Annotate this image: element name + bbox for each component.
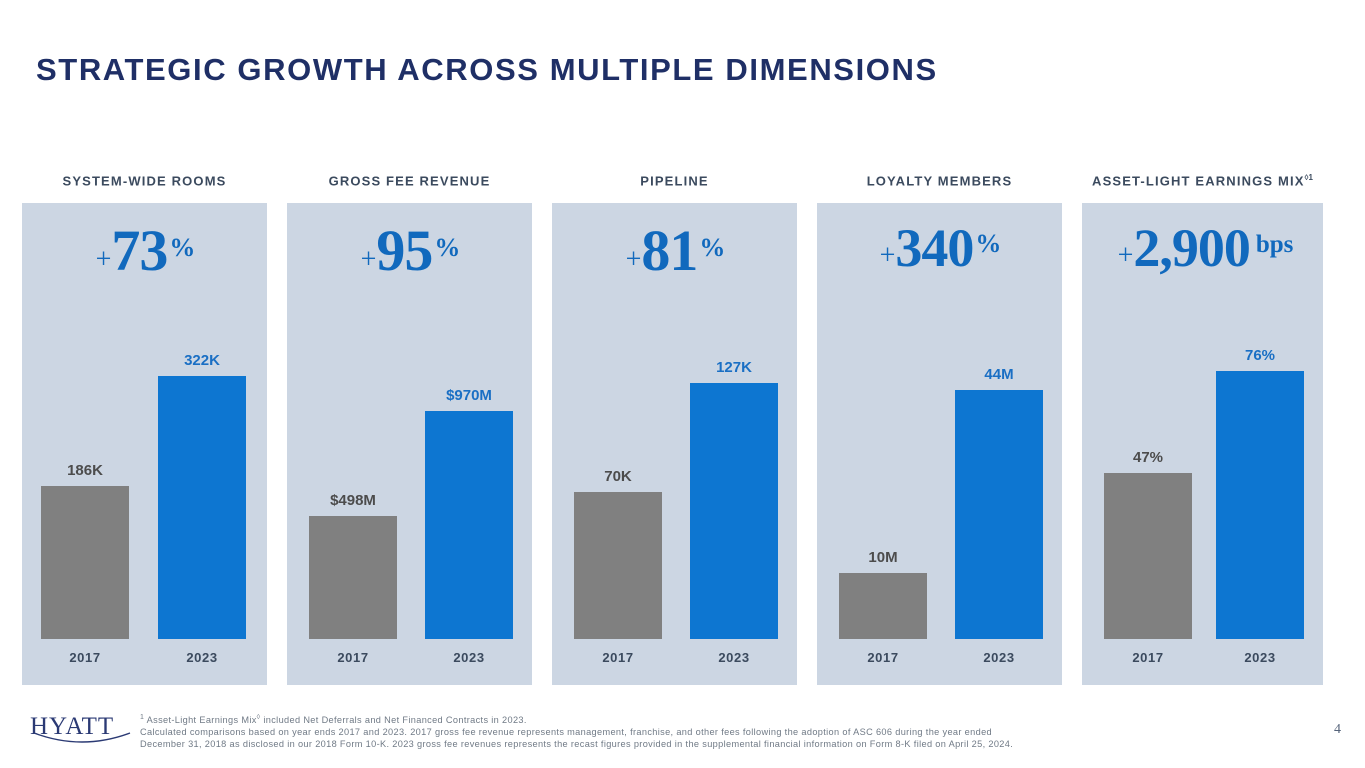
footnote-line-1: 1 Asset-Light Earnings Mix◊ included Net… (140, 712, 1280, 727)
footnote-line-2: Calculated comparisons based on year end… (140, 727, 1280, 739)
bar-chart: 10M 2017 44M 2023 (817, 203, 1062, 685)
year-label-2023: 2023 (425, 650, 513, 665)
bar-group-2017: 10M (839, 573, 927, 639)
bar-2023 (1216, 371, 1304, 639)
panel-body: +95% $498M 2017 $970M 2023 (287, 203, 532, 685)
panel-title: PIPELINE (552, 168, 797, 203)
year-label-2023: 2023 (955, 650, 1043, 665)
panel-body: +73% 186K 2017 322K 2023 (22, 203, 267, 685)
panel-title: SYSTEM-WIDE ROOMS (22, 168, 267, 203)
bar-2017 (1104, 473, 1192, 639)
bar-group-2023: 44M (955, 390, 1043, 639)
year-label-2017: 2017 (41, 650, 129, 665)
bar-2023 (955, 390, 1043, 639)
year-label-2023: 2023 (158, 650, 246, 665)
metric-panel-asset-light-earnings-mix: ASSET-LIGHT EARNINGS MIX◊1 +2,900bps 47%… (1082, 168, 1323, 688)
page-number: 4 (1334, 722, 1341, 738)
bar-value-2017: 47% (1133, 450, 1163, 465)
bar-value-2023: $970M (446, 388, 492, 403)
bar-2023 (690, 383, 778, 639)
footnote-line-3: December 31, 2018 as disclosed in our 20… (140, 739, 1280, 751)
bar-group-2017: 47% (1104, 473, 1192, 639)
metrics-panel-row: SYSTEM-WIDE ROOMS +73% 186K 2017 322K 20… (22, 168, 1343, 688)
year-label-2023: 2023 (1216, 650, 1304, 665)
bar-value-2017: 186K (67, 463, 103, 478)
panel-body: +81% 70K 2017 127K 2023 (552, 203, 797, 685)
bar-group-2017: 186K (41, 486, 129, 639)
metric-panel-pipeline: PIPELINE +81% 70K 2017 127K 2023 (552, 168, 797, 688)
bar-value-2023: 76% (1245, 348, 1275, 363)
panel-title: LOYALTY MEMBERS (817, 168, 1062, 203)
bar-2023 (158, 376, 246, 639)
bar-2017 (41, 486, 129, 639)
bar-value-2017: $498M (330, 493, 376, 508)
bar-value-2023: 322K (184, 353, 220, 368)
bar-chart: 186K 2017 322K 2023 (22, 203, 267, 685)
year-label-2017: 2017 (309, 650, 397, 665)
bar-chart: $498M 2017 $970M 2023 (287, 203, 532, 685)
hyatt-logo-arc-icon (32, 730, 132, 748)
bar-2017 (574, 492, 662, 639)
bar-group-2023: $970M (425, 411, 513, 639)
bar-group-2023: 76% (1216, 371, 1304, 639)
year-label-2023: 2023 (690, 650, 778, 665)
year-label-2017: 2017 (839, 650, 927, 665)
page-title: STRATEGIC GROWTH ACROSS MULTIPLE DIMENSI… (36, 52, 938, 88)
bar-2023 (425, 411, 513, 639)
metric-panel-system-wide-rooms: SYSTEM-WIDE ROOMS +73% 186K 2017 322K 20… (22, 168, 267, 688)
panel-title: ASSET-LIGHT EARNINGS MIX◊1 (1082, 168, 1323, 203)
metric-panel-loyalty-members: LOYALTY MEMBERS +340% 10M 2017 44M 2023 (817, 168, 1062, 688)
hyatt-logo: HYATT (30, 714, 135, 752)
bar-value-2023: 44M (984, 367, 1013, 382)
bar-2017 (839, 573, 927, 639)
panel-title: GROSS FEE REVENUE (287, 168, 532, 203)
panel-body: +340% 10M 2017 44M 2023 (817, 203, 1062, 685)
bar-group-2023: 127K (690, 383, 778, 639)
bar-group-2017: $498M (309, 516, 397, 639)
panel-body: +2,900bps 47% 2017 76% 2023 (1082, 203, 1323, 685)
bar-chart: 47% 2017 76% 2023 (1082, 203, 1323, 685)
bar-value-2023: 127K (716, 360, 752, 375)
bar-value-2017: 70K (604, 469, 632, 484)
metric-panel-gross-fee-revenue: GROSS FEE REVENUE +95% $498M 2017 $970M … (287, 168, 532, 688)
bar-chart: 70K 2017 127K 2023 (552, 203, 797, 685)
bar-2017 (309, 516, 397, 639)
year-label-2017: 2017 (574, 650, 662, 665)
bar-group-2023: 322K (158, 376, 246, 639)
slide-footer: HYATT 1 Asset-Light Earnings Mix◊ includ… (0, 700, 1365, 768)
bar-group-2017: 70K (574, 492, 662, 639)
year-label-2017: 2017 (1104, 650, 1192, 665)
panel-title-superscript: ◊1 (1305, 173, 1313, 182)
bar-value-2017: 10M (868, 550, 897, 565)
footnotes: 1 Asset-Light Earnings Mix◊ included Net… (140, 712, 1280, 750)
